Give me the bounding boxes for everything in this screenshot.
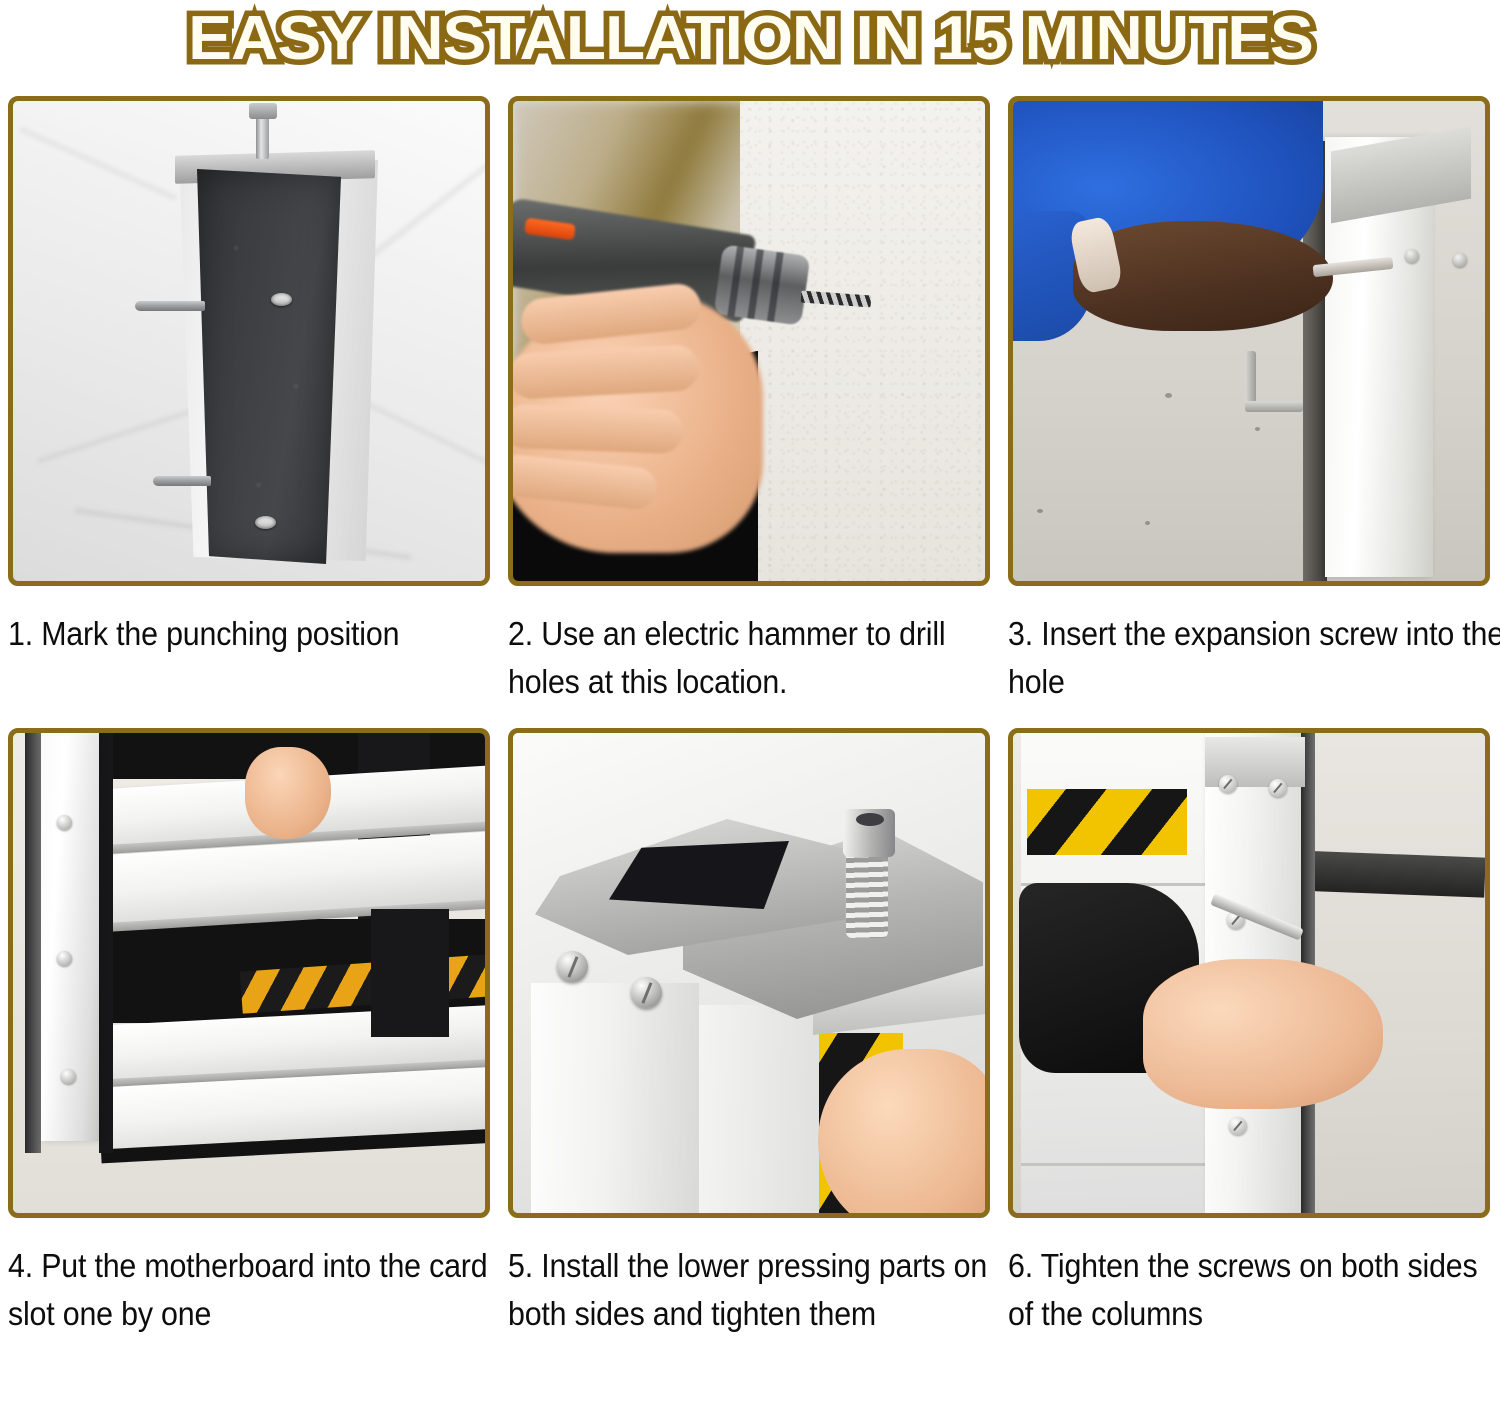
step-card-4: 4. Put the motherboard into the card slo…	[8, 728, 490, 1338]
step-caption-4: 4. Put the motherboard into the card slo…	[8, 1242, 505, 1338]
step-card-6: 6. Tighten the screws on both sides of t…	[1008, 728, 1490, 1338]
step-photo-frame-6	[1008, 728, 1490, 1218]
step-card-3: 3. Insert the expansion screw into the h…	[1008, 96, 1490, 706]
step-photo-6	[1013, 733, 1485, 1213]
step-card-1: 1. Mark the punching position	[8, 96, 490, 706]
page-title: EASY INSTALLATION IN 15 MINUTES	[188, 2, 1313, 76]
step-caption-5: 5. Install the lower pressing parts on b…	[508, 1242, 1005, 1338]
header-banner: EASY INSTALLATION IN 15 MINUTES	[0, 0, 1500, 96]
step-photo-4	[13, 733, 485, 1213]
step-photo-frame-1	[8, 96, 490, 586]
step-photo-2	[513, 101, 985, 581]
step-photo-3	[1013, 101, 1485, 581]
step-photo-5	[513, 733, 985, 1213]
step-photo-frame-4	[8, 728, 490, 1218]
step-caption-6: 6. Tighten the screws on both sides of t…	[1008, 1242, 1500, 1338]
step-card-5: 5. Install the lower pressing parts on b…	[508, 728, 990, 1338]
step-photo-frame-3	[1008, 96, 1490, 586]
step-photo-frame-5	[508, 728, 990, 1218]
step-card-2: 2. Use an electric hammer to drill holes…	[508, 96, 990, 706]
step-photo-1	[13, 101, 485, 581]
step-photo-frame-2	[508, 96, 990, 586]
steps-row-top: 1. Mark the punching position	[8, 96, 1492, 706]
step-caption-1: 1. Mark the punching position	[8, 610, 505, 658]
steps-grid: 1. Mark the punching position	[0, 96, 1500, 1338]
step-caption-3: 3. Insert the expansion screw into the h…	[1008, 610, 1500, 706]
steps-row-bottom: 4. Put the motherboard into the card slo…	[8, 728, 1492, 1338]
step-caption-2: 2. Use an electric hammer to drill holes…	[508, 610, 1005, 706]
